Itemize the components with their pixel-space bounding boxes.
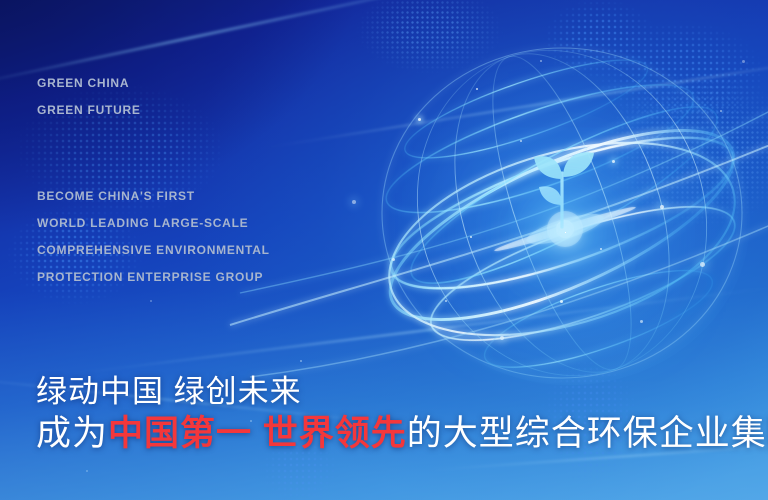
light-streak [264, 53, 768, 149]
slogan-line: COMPREHENSIVE ENVIRONMENTAL [37, 237, 270, 264]
slogan-english-body: BECOME CHINA'S FIRST WORLD LEADING LARGE… [37, 183, 270, 291]
slogan-line: BECOME CHINA'S FIRST [37, 183, 270, 210]
globe-halo [390, 55, 750, 385]
headline-highlight: 中国第一 世界领先 [108, 414, 407, 453]
headline-chinese: 绿动中国 绿创未来 成为中国第一 世界领先的大型综合环保企业集团 [36, 372, 768, 456]
slogan-line: PROTECTION ENTERPRISE GROUP [37, 264, 270, 291]
slogan-line: GREEN CHINA [37, 70, 141, 97]
hero-banner: GREEN CHINA GREEN FUTURE BECOME CHINA'S … [0, 0, 768, 500]
headline-line-1: 绿动中国 绿创未来 [36, 372, 768, 412]
headline-suffix: 的大型综合环保企业集团 [407, 414, 768, 453]
globe-core-glow [565, 232, 566, 233]
headline-line-2: 成为中国第一 世界领先的大型综合环保企业集团 [36, 412, 768, 456]
sprout-icon [534, 152, 594, 227]
slogan-line: WORLD LEADING LARGE-SCALE [37, 210, 270, 237]
slogan-line: GREEN FUTURE [37, 97, 141, 124]
slogan-english-top: GREEN CHINA GREEN FUTURE [37, 70, 141, 124]
light-streak [63, 286, 768, 376]
wireframe-globe [350, 25, 768, 395]
headline-prefix: 成为 [36, 414, 108, 453]
